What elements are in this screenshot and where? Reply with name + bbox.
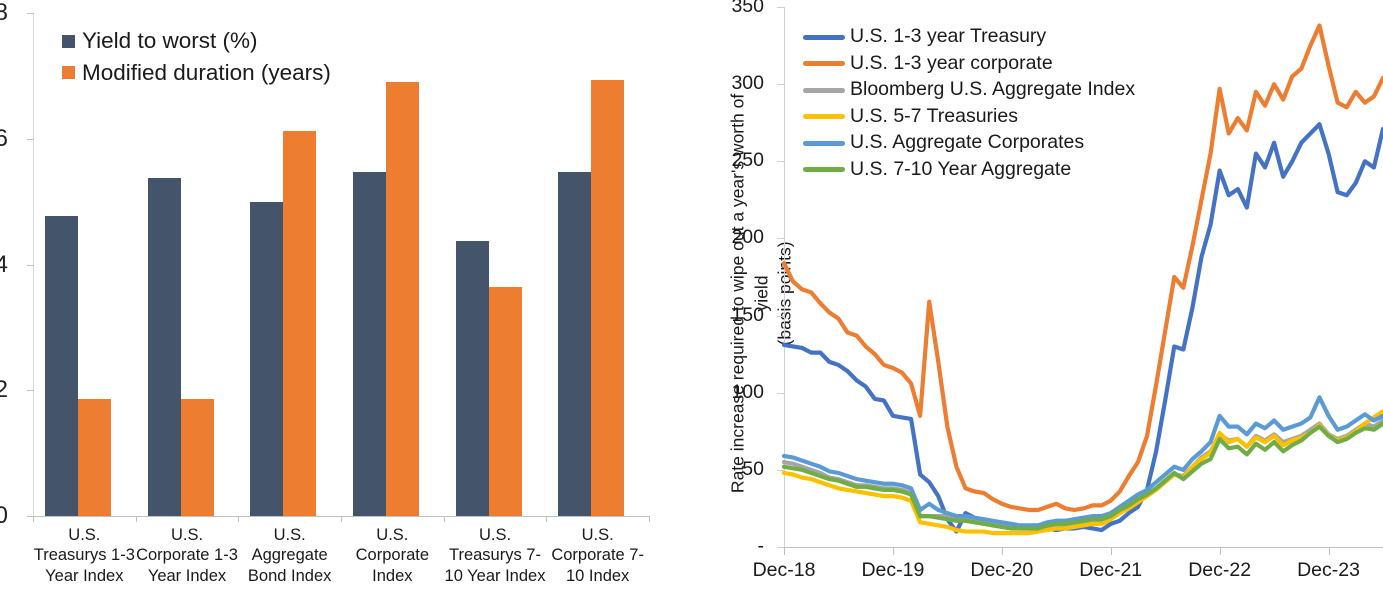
bar-yield-to-worst [456,241,489,516]
bar-chart-category-label: U.S.Treasurys 7-10 Year Index [438,525,553,586]
bar-chart-x-tick [238,516,239,522]
bar-chart-category-label-line: 10 Year Index [445,567,546,585]
line-swatch [803,88,845,93]
line-legend-item[interactable]: Bloomberg U.S. Aggregate Index [803,79,1135,101]
bar-chart-category-label-line: U.S. [171,526,203,544]
bar-chart-x-tick [136,516,137,522]
bar-chart-y-tick-label: 6 [0,127,8,151]
bar-chart-x-tick [444,516,445,522]
line-legend-item[interactable]: U.S. 1-3 year Treasury [803,26,1135,48]
line-chart-legend: U.S. 1-3 year TreasuryU.S. 1-3 year corp… [803,26,1135,185]
line-swatch [803,141,845,146]
bar-chart-y-tick-label: 0 [0,504,8,528]
line-legend-label: U.S. 5-7 Treasuries [850,107,1018,127]
line-legend-item[interactable]: U.S. 7-10 Year Aggregate [803,159,1135,181]
bar-chart-y-tick-label: 4 [0,253,8,277]
bar-chart-category-label-line: U.S. [68,526,100,544]
line-legend-item[interactable]: U.S. Aggregate Corporates [803,132,1135,154]
line-swatch [803,167,845,172]
bar-chart-x-tick [341,516,342,522]
line-swatch [803,61,845,66]
bar-chart-x-tick [546,516,547,522]
bar-modified-duration [489,287,522,516]
bar-chart-x-tick [33,516,34,522]
line-legend-label: U.S. Aggregate Corporates [850,133,1084,153]
bar-chart-category-label-line: U.S. [582,526,614,544]
bar-yield-to-worst [148,178,181,516]
bar-chart-category-label: U.S.CorporateIndex [335,525,450,586]
bar-chart-category-label-line: Corporate [356,546,429,564]
bar-modified-duration [78,399,111,516]
bar-modified-duration [181,399,214,516]
bar-modified-duration [386,82,419,516]
bar-chart-y-tick-label: 8 [0,1,8,25]
bar-chart-category-label: U.S.Treasurys 1-3Year Index [27,525,142,586]
bar-chart-category-label-line: U.S. [274,526,306,544]
bar-legend-label: Modified duration (years) [82,62,331,85]
bar-legend-item[interactable]: Yield to worst (%) [62,30,331,53]
bar-chart-category-label-line: Year Index [45,567,123,585]
bar-modified-duration [283,131,316,516]
bar-chart-category-label: U.S.Corporate 1-3Year Index [130,525,245,586]
bar-chart-category-label-line: U.S. [479,526,511,544]
bar-chart-category-label-line: Corporate 7- [551,546,644,564]
bar-yield-to-worst [45,216,78,516]
bar-chart-category-label-line: 10 Index [566,567,629,585]
line-swatch [803,114,845,119]
line-series-path [784,124,1383,531]
bar-chart-category-label-line: U.S. [376,526,408,544]
line-legend-label: U.S. 1-3 year Treasury [850,27,1046,47]
bar-chart-category-label-line: Year Index [148,567,226,585]
bar-chart-category-label-line: Treasurys 7- [449,546,541,564]
bar-chart-category-label-line: Corporate 1-3 [136,546,238,564]
line-legend-label: U.S. 7-10 Year Aggregate [850,160,1071,180]
line-legend-item[interactable]: U.S. 5-7 Treasuries [803,106,1135,128]
bar-chart-category-label-line: Aggregate [252,546,328,564]
square-swatch [62,35,75,48]
bar-chart-y-tick-label: 2 [0,378,8,402]
dual-chart-figure: 02468 U.S.Treasurys 1-3Year IndexU.S.Cor… [0,0,1383,596]
bar-yield-to-worst [558,172,591,516]
line-legend-label: Bloomberg U.S. Aggregate Index [850,80,1135,100]
line-series-path [784,420,1383,528]
bar-legend-label: Yield to worst (%) [82,30,257,53]
bar-chart-category-label-line: Index [372,567,412,585]
line-series-path [784,397,1383,525]
bar-modified-duration [591,80,624,516]
bar-chart-legend: Yield to worst (%)Modified duration (yea… [62,30,331,93]
bar-yield-to-worst [353,172,386,516]
line-chart-rate-increase: Rate increase required to wipe out a yea… [670,0,1383,596]
bar-yield-to-worst [250,202,283,516]
line-series-path [784,411,1383,533]
bar-chart-category-label-line: Bond Index [248,567,331,585]
bar-chart-yield-duration: 02468 U.S.Treasurys 1-3Year IndexU.S.Cor… [0,0,670,596]
bar-chart-category-label: U.S.AggregateBond Index [232,525,347,586]
line-legend-item[interactable]: U.S. 1-3 year corporate [803,53,1135,75]
line-swatch [803,35,845,40]
bar-legend-item[interactable]: Modified duration (years) [62,62,331,85]
line-legend-label: U.S. 1-3 year corporate [850,54,1053,74]
bar-chart-x-tick [649,516,650,522]
square-swatch [62,66,75,79]
bar-chart-category-label-line: Treasurys 1-3 [34,546,135,564]
bar-chart-category-label: U.S.Corporate 7-10 Index [540,525,655,586]
